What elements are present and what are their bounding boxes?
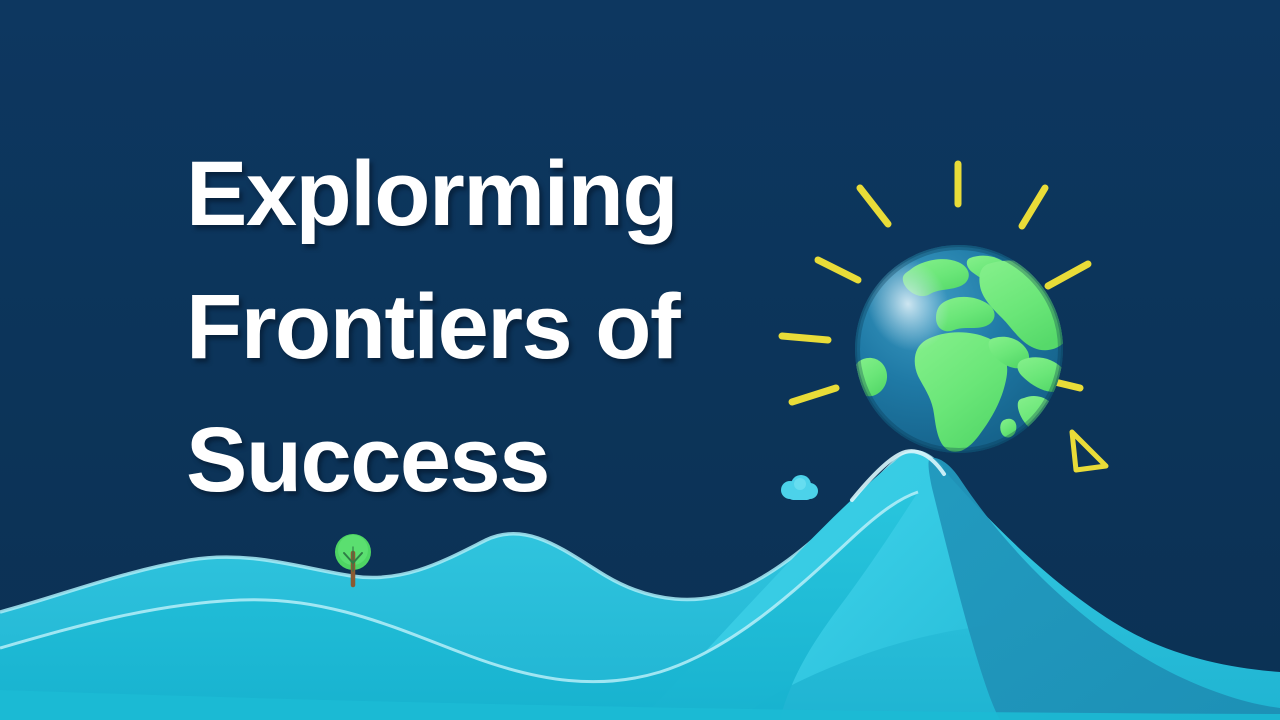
title-line-1: Explorming (186, 128, 826, 261)
title-line-2: Frontiers of (186, 261, 826, 394)
earth-globe-icon (852, 242, 1066, 456)
arrow-marker-icon (1072, 432, 1106, 470)
earth-globe (852, 242, 1066, 456)
presentation-slide: Explorming Frontiers of Success (0, 0, 1280, 720)
page-title: Explorming Frontiers of Success (186, 128, 826, 527)
title-line-3: Success (186, 394, 826, 527)
tree-icon (330, 533, 376, 591)
tree (330, 533, 376, 591)
